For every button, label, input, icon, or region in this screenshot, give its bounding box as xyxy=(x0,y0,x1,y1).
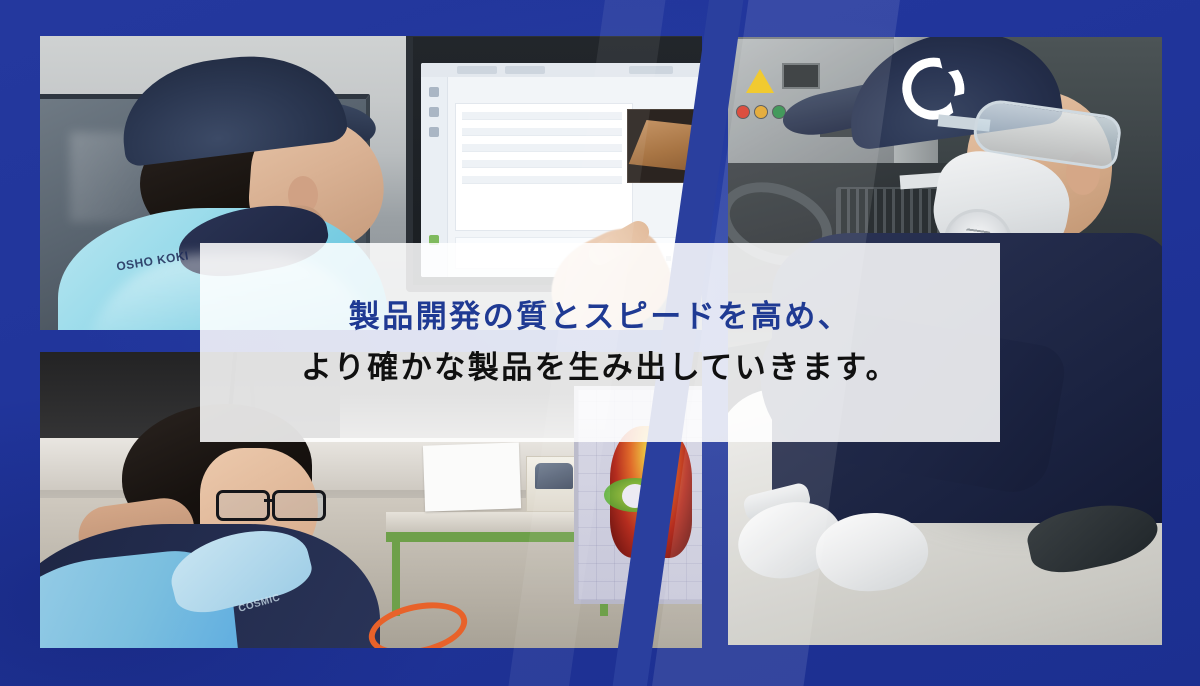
eyeglass-lens xyxy=(272,490,326,521)
desk-leg xyxy=(392,542,400,616)
app-tab xyxy=(629,66,673,74)
app-sidebar-icon xyxy=(429,87,439,97)
list-item xyxy=(462,144,622,152)
eyeglass-bridge xyxy=(264,499,274,502)
list-item xyxy=(462,112,622,120)
app-tab xyxy=(457,66,497,74)
app-sidebar-icon xyxy=(429,127,439,137)
list-item xyxy=(462,176,622,184)
cad-viewport xyxy=(594,420,702,570)
warning-triangle-icon xyxy=(746,69,774,93)
headline-line-1: 製品開発の質とスピードを高め、 xyxy=(349,295,852,340)
message-overlay: 製品開発の質とスピードを高め、 より確かな製品を生み出していきます。 xyxy=(200,243,1000,442)
app-sidebar-icon xyxy=(429,107,439,117)
3d-model-render xyxy=(629,120,702,172)
paper-stack xyxy=(423,442,521,511)
list-item xyxy=(462,160,622,168)
app-list-panel xyxy=(455,103,633,231)
eyeglasses xyxy=(216,490,328,516)
model-preview xyxy=(627,109,702,183)
app-tab xyxy=(505,66,545,74)
emergency-stop-button[interactable] xyxy=(736,105,750,119)
c-logo-icon xyxy=(896,51,971,126)
cabinet-display xyxy=(782,63,820,89)
page-root: OSHO KOKI xyxy=(0,0,1200,686)
indicator-button[interactable] xyxy=(754,105,768,119)
list-item xyxy=(462,128,622,136)
eyeglass-lens xyxy=(216,490,270,521)
box-figure xyxy=(535,463,573,489)
cad-model-cavity xyxy=(622,484,648,508)
headline-line-2: より確かな製品を生み出していきます。 xyxy=(301,346,899,391)
